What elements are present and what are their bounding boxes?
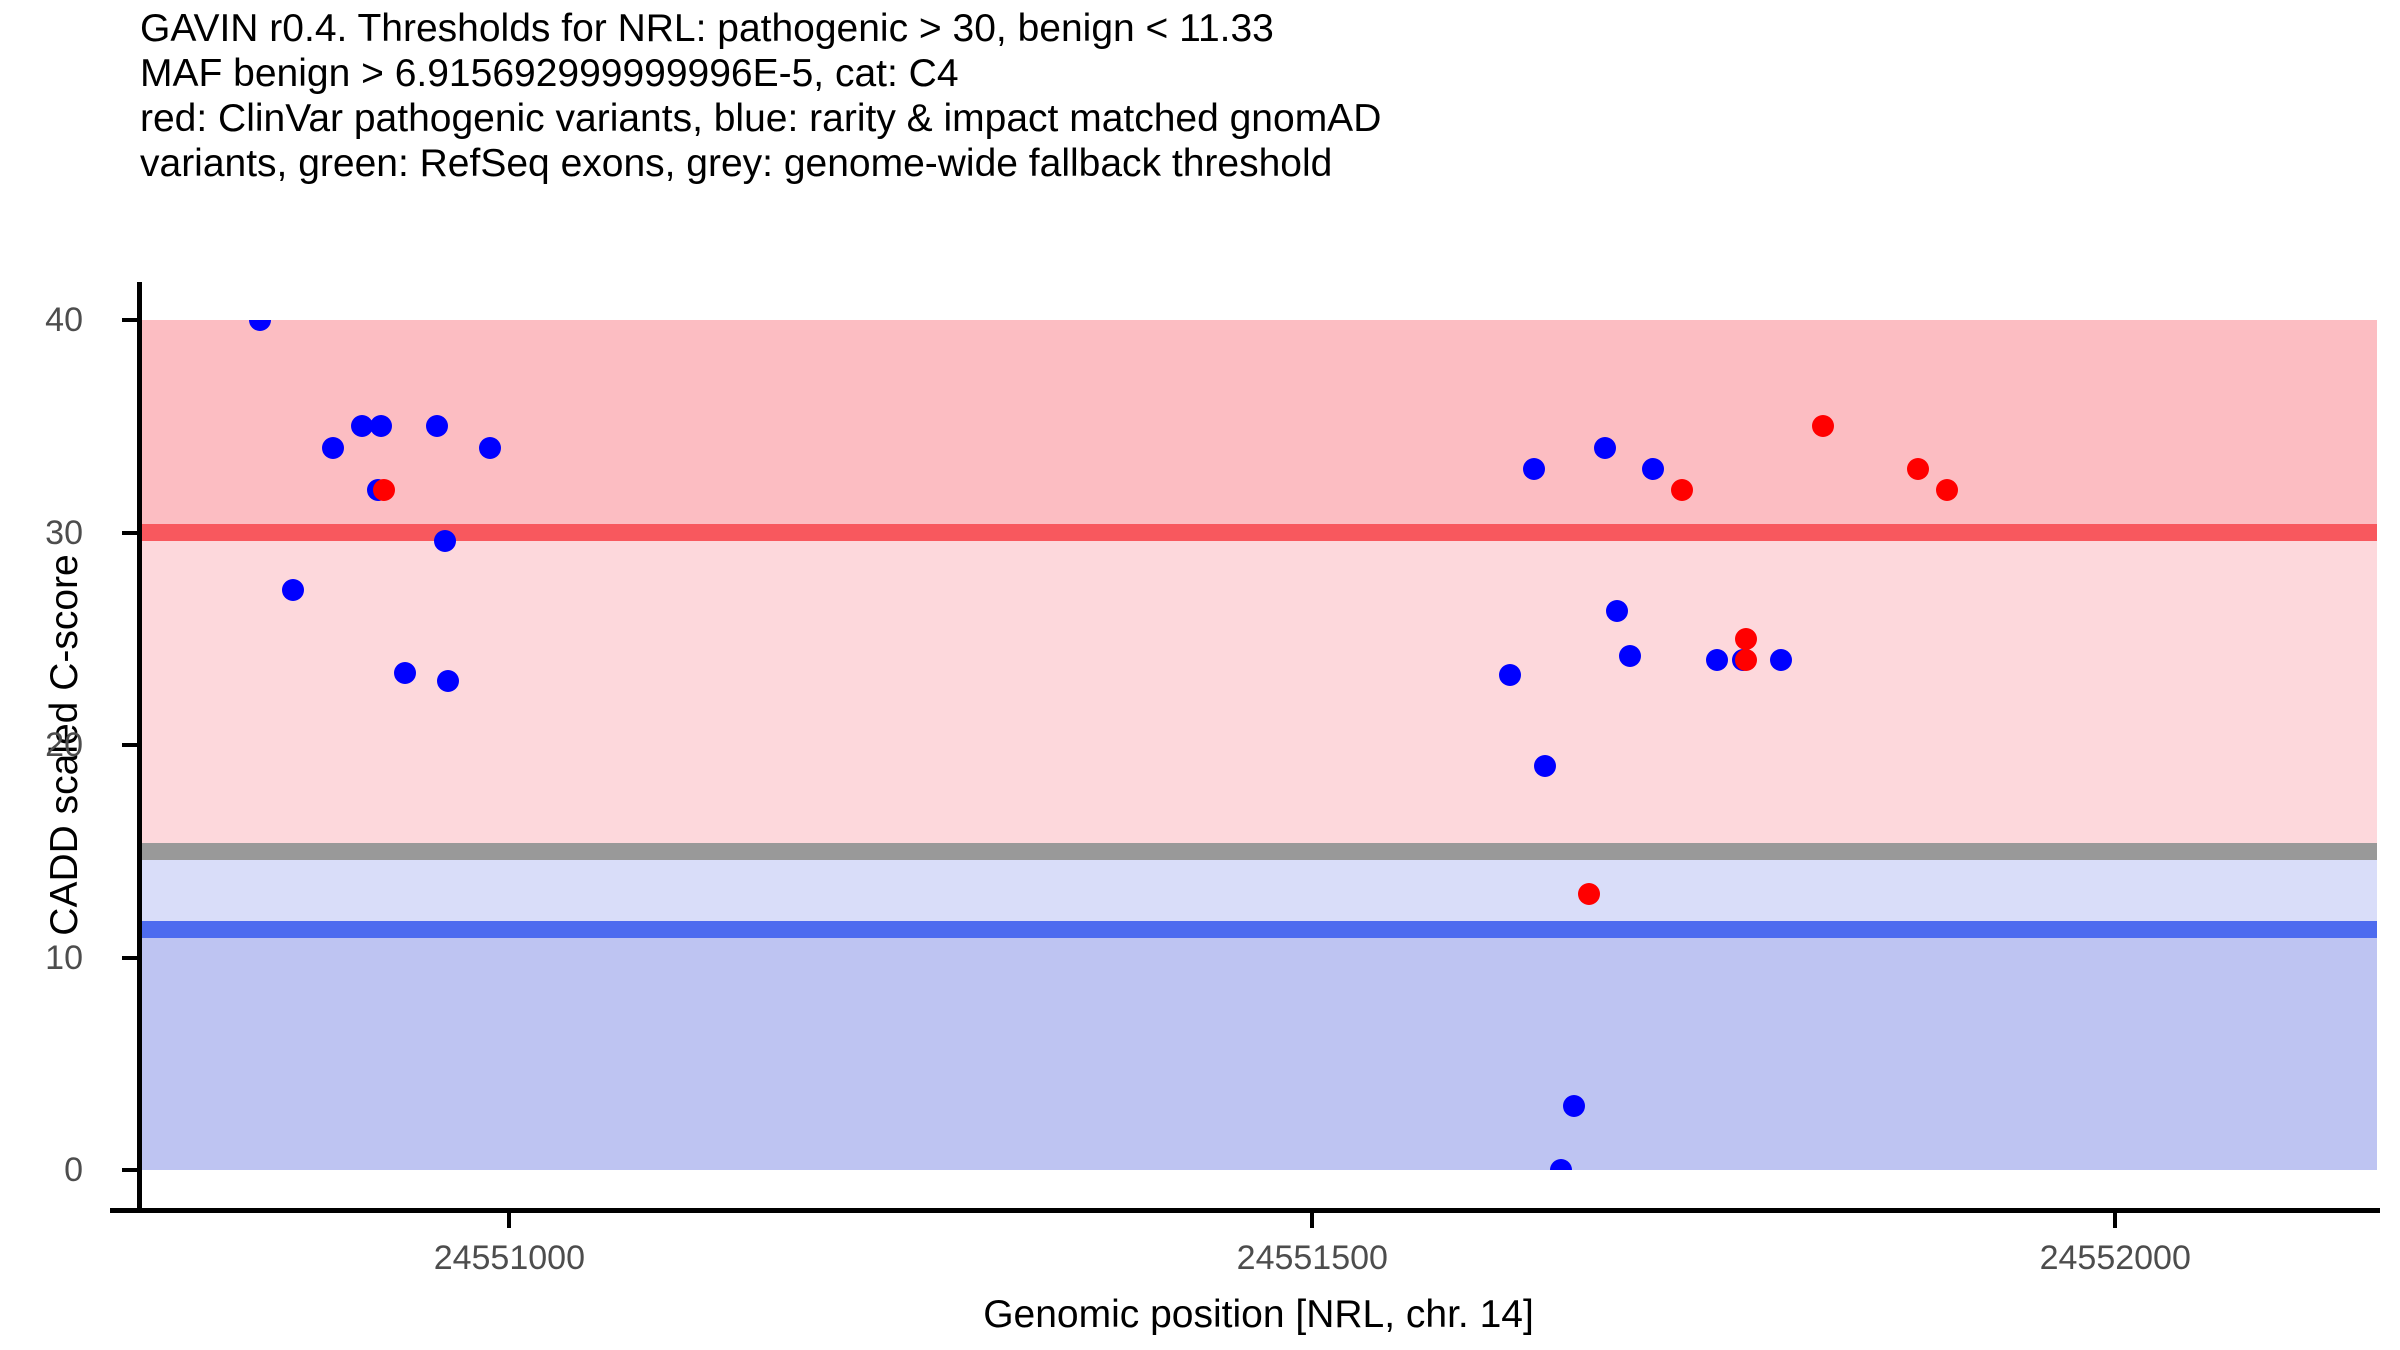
y-axis-tick bbox=[122, 318, 139, 322]
threshold-band-pathogenic bbox=[140, 320, 2377, 533]
data-point bbox=[1499, 664, 1521, 686]
threshold-band-vus bbox=[140, 533, 2377, 852]
threshold-band-benign-upper bbox=[140, 851, 2377, 929]
data-point bbox=[322, 437, 344, 459]
data-point bbox=[1936, 479, 1958, 501]
x-axis-tick-label: 24551000 bbox=[309, 1238, 709, 1278]
data-point bbox=[394, 662, 416, 684]
y-axis-tick bbox=[122, 956, 139, 960]
x-axis-tick-label: 24551500 bbox=[1112, 1238, 1512, 1278]
y-axis-tick-label: 0 bbox=[0, 1153, 83, 1187]
data-point bbox=[282, 579, 304, 601]
y-axis-tick-label: 40 bbox=[0, 303, 83, 337]
y-axis-tick bbox=[122, 743, 139, 747]
data-point bbox=[1735, 649, 1757, 671]
data-point bbox=[373, 479, 395, 501]
y-axis-tick bbox=[122, 1168, 139, 1172]
x-axis-title: Genomic position [NRL, chr. 14] bbox=[140, 1292, 2377, 1337]
y-axis-line bbox=[137, 282, 142, 1212]
data-point bbox=[479, 437, 501, 459]
threshold-line-fallback bbox=[140, 843, 2377, 860]
y-axis-tick bbox=[122, 531, 139, 535]
data-point bbox=[434, 530, 456, 552]
x-axis-tick bbox=[507, 1212, 511, 1228]
data-point bbox=[1594, 437, 1616, 459]
threshold-line-pathogenic bbox=[140, 524, 2377, 541]
data-point bbox=[370, 415, 392, 437]
data-point bbox=[1671, 479, 1693, 501]
y-axis-tick-label: 20 bbox=[0, 728, 83, 762]
x-axis-tick bbox=[2113, 1212, 2117, 1228]
y-axis-tick-label: 30 bbox=[0, 516, 83, 550]
x-axis-tick-label: 24552000 bbox=[1915, 1238, 2315, 1278]
data-point bbox=[1578, 883, 1600, 905]
data-point bbox=[1735, 628, 1757, 650]
data-point bbox=[1706, 649, 1728, 671]
data-point bbox=[1619, 645, 1641, 667]
threshold-band-benign bbox=[140, 929, 2377, 1170]
plot-panel bbox=[140, 320, 2377, 1170]
threshold-line-benign bbox=[140, 921, 2377, 938]
y-axis-tick-label: 10 bbox=[0, 941, 83, 975]
scatter-plot: CADD scaled C-score Genomic position [NR… bbox=[0, 0, 2400, 1350]
x-axis-line bbox=[110, 1208, 2380, 1213]
data-point bbox=[1642, 458, 1664, 480]
data-point bbox=[1907, 458, 1929, 480]
data-point bbox=[1523, 458, 1545, 480]
x-axis-tick bbox=[1310, 1212, 1314, 1228]
